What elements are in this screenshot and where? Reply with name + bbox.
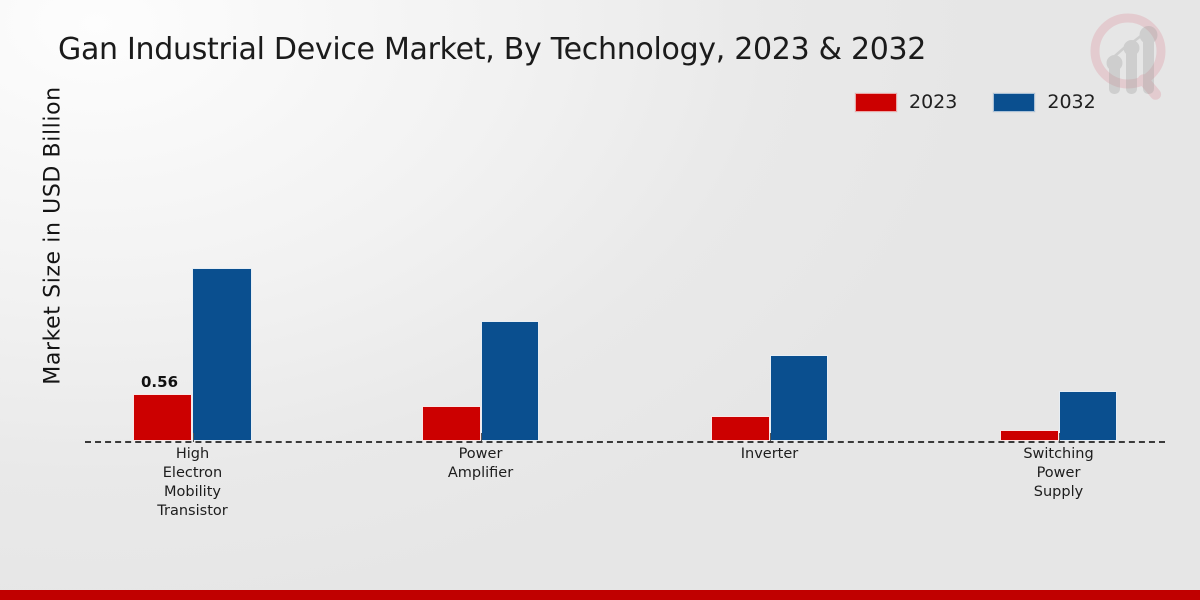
category-label-line: Switching: [1023, 445, 1093, 464]
chart-canvas: Gan Industrial Device Market, By Technol…: [0, 0, 1200, 600]
bar-2023-switching-power-supply[interactable]: [1000, 430, 1059, 441]
bar-2032-power-amplifier[interactable]: [481, 321, 539, 441]
footer-accent-bar: [0, 590, 1200, 600]
category-label-line: Mobility: [157, 483, 227, 502]
category-label-line: Power: [448, 445, 513, 464]
category-label-line: High: [157, 445, 227, 464]
bar-2023-inverter[interactable]: [711, 416, 770, 441]
bar-group-switching-power-supply: Switching Power Supply: [1000, 181, 1117, 441]
category-label-high-electron-mobility-transistor: High Electron Mobility Transistor: [157, 445, 227, 521]
bar-group-inverter: Inverter: [711, 181, 828, 441]
bar-2032-switching-power-supply[interactable]: [1059, 391, 1117, 441]
category-label-line: Supply: [1023, 483, 1093, 502]
category-label-line: Amplifier: [448, 464, 513, 483]
category-label-line: Transistor: [157, 502, 227, 521]
category-label-inverter: Inverter: [741, 445, 799, 464]
bar-2023-high-electron-mobility-transistor[interactable]: [133, 394, 192, 441]
bar-2032-inverter[interactable]: [770, 355, 828, 441]
category-label-switching-power-supply: Switching Power Supply: [1023, 445, 1093, 502]
plot-area: 0.56 High Electron Mobility Transistor P…: [0, 0, 1200, 600]
bar-2023-power-amplifier[interactable]: [422, 406, 481, 441]
bar-group-power-amplifier: Power Amplifier: [422, 181, 539, 441]
category-label-line: Electron: [157, 464, 227, 483]
bar-data-label-0: 0.56: [141, 373, 178, 391]
category-label-power-amplifier: Power Amplifier: [448, 445, 513, 483]
category-label-line: Power: [1023, 464, 1093, 483]
bar-2032-high-electron-mobility-transistor[interactable]: [192, 268, 252, 441]
bar-group-high-electron-mobility-transistor: 0.56 High Electron Mobility Transistor: [133, 181, 252, 441]
x-axis-baseline: [85, 441, 1165, 443]
category-label-line: Inverter: [741, 445, 799, 464]
